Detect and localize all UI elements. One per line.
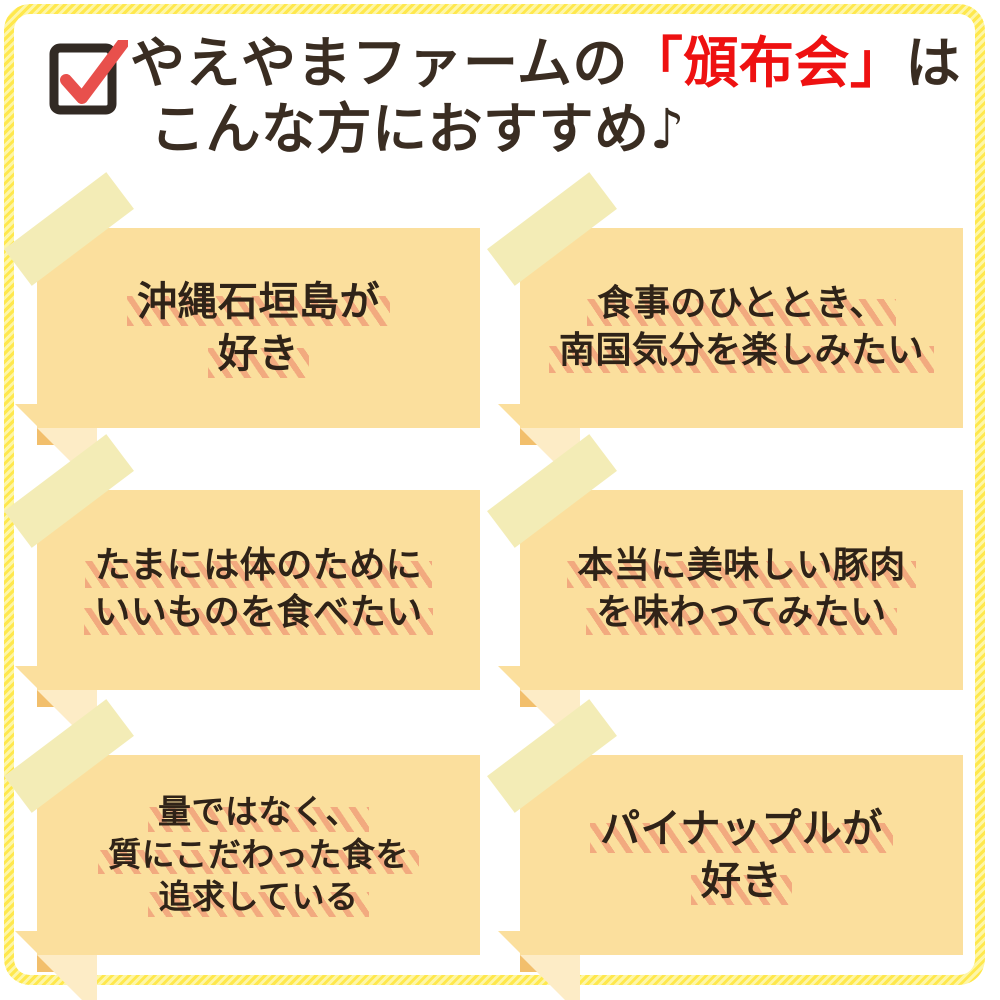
card-line: 本当に美味しい豚肉	[573, 543, 910, 590]
card-line: 沖縄石垣島が	[133, 276, 384, 328]
card-line: たまには体のために	[91, 543, 426, 590]
card-tropical-mood: 食事のひととき、 南国気分を楽しみたい	[520, 228, 963, 428]
card-line: 量ではなく、	[154, 791, 363, 834]
card-text: たまには体のために いいものを食べたい	[37, 490, 480, 690]
card-line: パイナップルが	[596, 803, 887, 855]
card-text: 沖縄石垣島が 好き	[37, 228, 480, 428]
benefit-card-grid: 沖縄石垣島が 好き 食事のひととき、 南国気分を楽しみたい たまには体のために …	[0, 0, 1000, 1000]
card-text: 本当に美味しい豚肉 を味わってみたい	[520, 490, 963, 690]
card-line: いいものを食べたい	[90, 590, 427, 637]
card-pineapple: パイナップルが 好き	[520, 755, 963, 955]
card-line: 質にこだわった食を	[104, 834, 413, 877]
card-delicious-pork: 本当に美味しい豚肉 を味わってみたい	[520, 490, 963, 690]
card-text: 量ではなく、 質にこだわった食を 追求している	[37, 755, 480, 955]
poster-canvas: やえやまファームの「頒布会」は こんな方におすすめ♪ 沖縄石垣島が 好き 食事の…	[0, 0, 1000, 1000]
card-quality-over-quantity: 量ではなく、 質にこだわった食を 追求している	[37, 755, 480, 955]
card-line: 好き	[697, 855, 786, 907]
card-text: 食事のひととき、 南国気分を楽しみたい	[520, 228, 963, 428]
card-line: 追求している	[154, 876, 362, 919]
card-line: 食事のひととき、	[593, 281, 889, 328]
card-line: 南国気分を楽しみたい	[555, 328, 928, 375]
folded-corner	[37, 955, 97, 1000]
folded-corner	[520, 955, 580, 1000]
card-okinawa-ishigaki: 沖縄石垣島が 好き	[37, 228, 480, 428]
card-text: パイナップルが 好き	[520, 755, 963, 955]
card-good-for-body: たまには体のために いいものを食べたい	[37, 490, 480, 690]
card-line: 好き	[214, 328, 303, 380]
card-line: を味わってみたい	[592, 590, 890, 637]
